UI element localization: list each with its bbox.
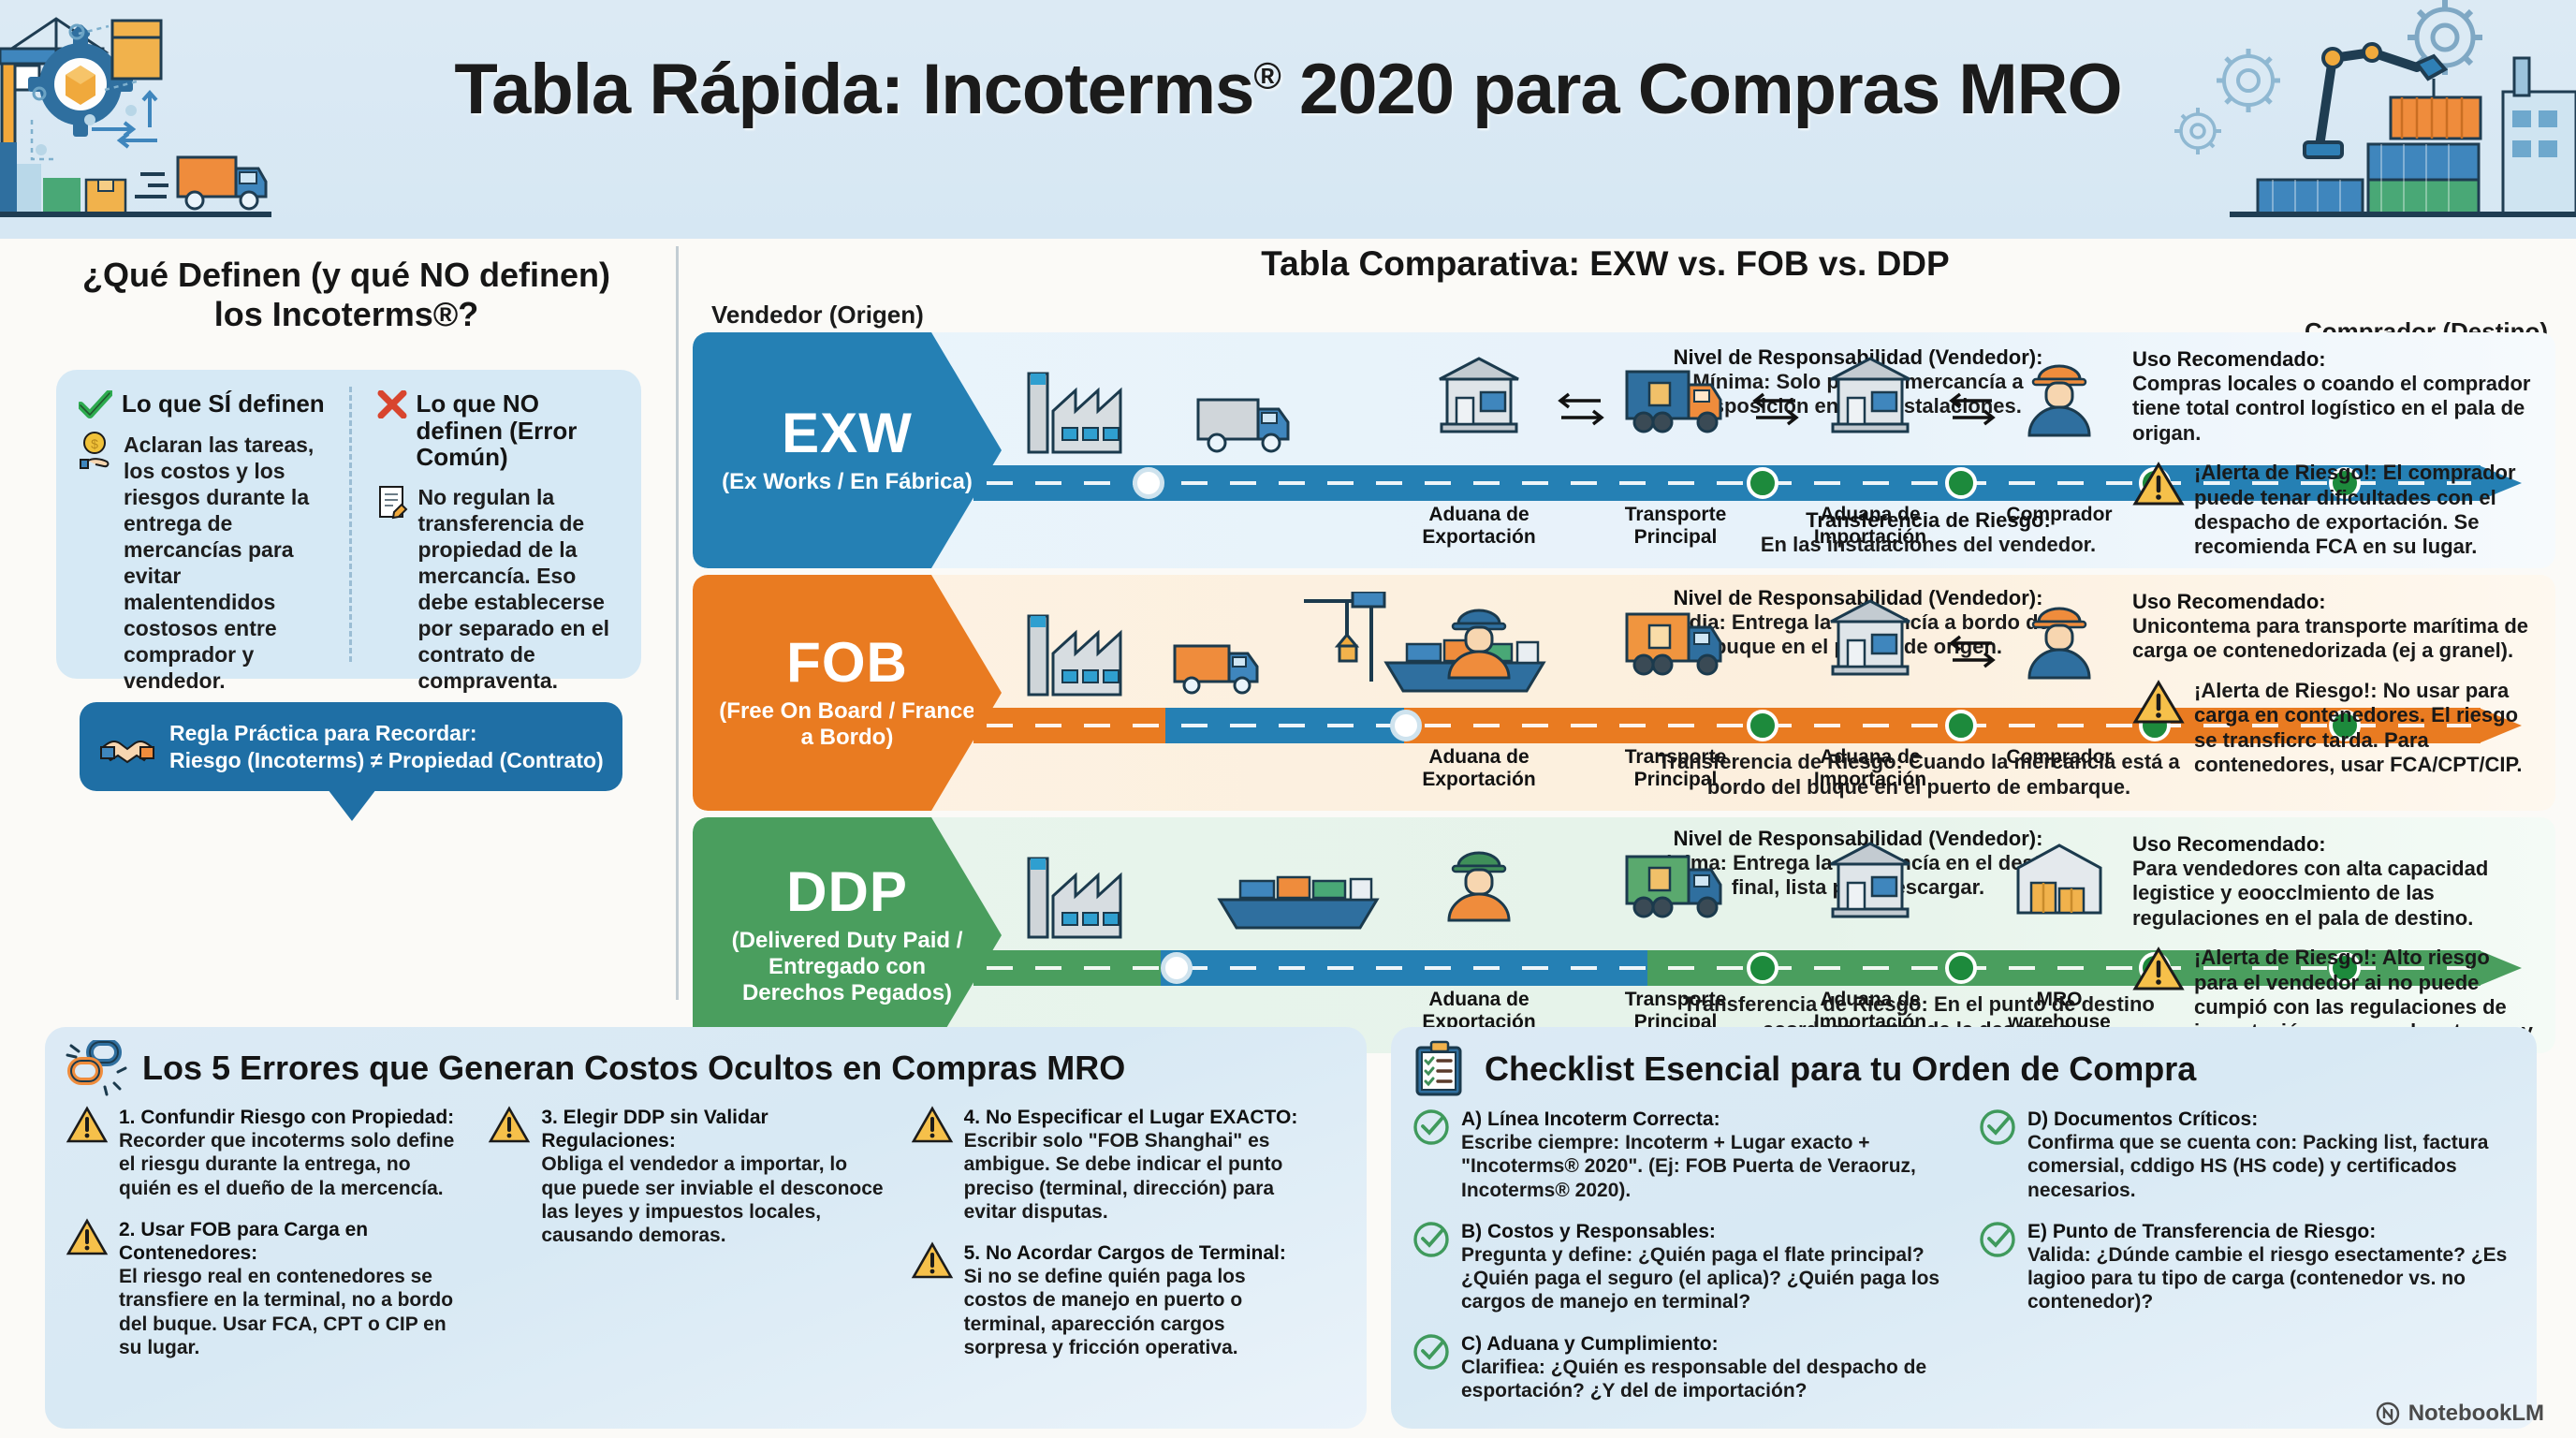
item-body: El riesgo real en contenedores se transf… <box>119 1266 453 1358</box>
factory-icon <box>1029 616 1120 695</box>
list-item: A) Línea Incoterm Correcta:Escribe ciemp… <box>1412 1108 1950 1202</box>
alert-label: ¡Alerta de Riesgo!: <box>2194 679 2378 702</box>
risk-transfer-body: En las instalaciones del vendedor. <box>1666 533 2190 557</box>
callout-pointer <box>328 789 376 821</box>
risk-transfer-title: Transferencia de Riesgo: <box>1666 508 2190 533</box>
factory-icon <box>1029 374 1120 452</box>
list-item: 1. Confundir Riesgo con Propiedad:Record… <box>66 1106 463 1200</box>
incoterm-code: DDP <box>786 864 908 920</box>
table-row: FOB (Free On Board / France a Bordo) <box>693 575 2555 811</box>
warning-triangle-icon <box>2132 946 2185 992</box>
incoterm-code: EXW <box>782 405 913 462</box>
factory-icon <box>1029 858 1120 937</box>
flow-node <box>1945 952 1977 984</box>
item-body: Si no se define quién paga los costos de… <box>964 1266 1246 1358</box>
warning-triangle-icon <box>911 1241 954 1281</box>
comparison-column-headers: Vendedor (Origen) Comprador (Destino) <box>693 293 2555 332</box>
contract-document-icon <box>377 484 409 521</box>
risk-transfer-title: Transferencia de Riesgo: <box>1683 992 1928 1016</box>
item-head: 1. Confundir Riesgo con Propiedad: <box>119 1107 454 1128</box>
advice-body: Compras locales o coando el comprador ti… <box>2132 372 2537 446</box>
checklist-column-1: A) Línea Incoterm Correcta:Escribe ciemp… <box>1412 1108 1950 1420</box>
port-crane-icon <box>1304 592 1384 682</box>
item-head: A) Línea Incoterm Correcta: <box>1461 1108 1720 1130</box>
item-head: 2. Usar FOB para Carga en Contenedores: <box>119 1219 368 1264</box>
header-art-right <box>2136 0 2576 239</box>
advice-body: Unicontema para transporte marítima de c… <box>2132 614 2537 664</box>
table-row: EXW (Ex Works / En Fábrica) <box>693 332 2555 568</box>
item-body: Clarifiea: ¿Quién es responsable del des… <box>1461 1357 1926 1401</box>
item-body: Escribe ciempre: Incoterm + Lugar exacto… <box>1461 1132 1916 1200</box>
check-circle-icon <box>1412 1220 1451 1259</box>
warning-triangle-icon <box>911 1106 954 1145</box>
errors-panel: Los 5 Errores que Generan Costos Ocultos… <box>45 1027 1367 1429</box>
stage-customs-export: Aduana de Exportación <box>1404 825 1554 922</box>
stage-buyer: Comprador <box>1984 340 2134 437</box>
item-head: D) Documentos Críticos: <box>2027 1108 2258 1130</box>
page-title-tail: 2020 para Compras MRO <box>1281 50 2122 129</box>
brand-label: NotebookLM <box>2408 1401 2544 1427</box>
brand-watermark: NotebookLM <box>2376 1401 2544 1427</box>
page-header: Tabla Rápida: Incoterms® 2020 para Compr… <box>0 0 2576 239</box>
flow-node <box>1945 710 1977 741</box>
buyer-worker-icon <box>1984 340 2134 437</box>
list-item: 5. No Acordar Cargos de Terminal:Si no s… <box>911 1241 1309 1359</box>
handshake-icon <box>98 725 156 770</box>
advice-block-fob: Uso Recomendado: Unicontema para transpo… <box>2123 586 2550 777</box>
item-head: E) Punto de Transferencia de Riesgo: <box>2027 1221 2376 1242</box>
risk-transfer-node <box>1133 467 1164 499</box>
flow-node <box>1747 710 1778 741</box>
list-item: D) Documentos Críticos:Confirma que se c… <box>1978 1108 2516 1202</box>
list-item: E) Punto de Transferencia de Riesgo:Vali… <box>1978 1220 2516 1314</box>
warning-triangle-icon <box>488 1106 531 1145</box>
practical-rule-callout: Regla Práctica para Recordar: Riesgo (In… <box>80 702 622 791</box>
definitions-heading: ¿Qué Definen (y qué NO definen) los Inco… <box>28 256 665 335</box>
advice-block-ddp: Uso Recomendado: Para vendedores con alt… <box>2123 829 2550 1053</box>
customs-building-icon <box>1795 582 1945 680</box>
item-head: 4. No Especificar el Lugar EXACTO: <box>964 1107 1298 1128</box>
incoterm-subtitle: (Free On Board / France a Bordo) <box>693 698 1002 751</box>
list-item: 4. No Especificar el Lugar EXACTO:Escrib… <box>911 1106 1309 1224</box>
list-item: B) Costos y Responsables:Pregunta y defi… <box>1412 1220 1950 1314</box>
item-body: Recorder que incoterms solo define el ri… <box>119 1130 454 1198</box>
container-ship-icon <box>1220 877 1377 928</box>
incoterm-label-fob: FOB (Free On Board / France a Bordo) <box>693 575 1002 811</box>
item-body: Confirma que se cuenta con: Packing list… <box>2027 1132 2488 1200</box>
advice-title: Uso Recomendado: <box>2132 347 2537 372</box>
incoterm-label-ddp: DDP (Delivered Duty Paid / Entregado con… <box>693 817 1002 1053</box>
check-circle-icon <box>1978 1108 2017 1147</box>
svg-text:$: $ <box>91 436 98 451</box>
green-check-icon <box>79 390 112 418</box>
stage-buyer: Comprador <box>1984 582 2134 680</box>
comparison-table-title: Tabla Comparativa: EXW vs. FOB vs. DDP <box>655 244 2555 284</box>
stage-customs-import: Aduana de Importación <box>1795 825 1945 922</box>
notebooklm-icon <box>2376 1401 2400 1426</box>
definitions-panel: ¿Qué Definen (y qué NO definen) los Inco… <box>28 248 665 1016</box>
item-body: Valida: ¿Dúnde cambie el riesgo esectame… <box>2027 1244 2507 1313</box>
item-body: Escribir solo "FOB Shanghai" es ambigue.… <box>964 1130 1283 1223</box>
incoterm-subtitle: (Delivered Duty Paid / Entregado con Der… <box>693 928 1002 1005</box>
item-body: Obliga el vendedor a importar, lo que pu… <box>541 1153 883 1246</box>
item-head: B) Costos y Responsables: <box>1461 1221 1716 1242</box>
stage-customs-export: Aduana de Exportación <box>1404 340 1554 437</box>
list-item: C) Aduana y Cumplimiento:Clarifiea: ¿Qui… <box>1412 1332 1950 1403</box>
clipboard-checklist-icon <box>1412 1040 1470 1098</box>
advice-title: Uso Recomendado: <box>2132 832 2537 857</box>
registered-mark: ® <box>1253 56 1280 97</box>
checklist-column-2: D) Documentos Críticos:Confirma que se c… <box>1978 1108 2516 1420</box>
warning-triangle-icon <box>2132 679 2185 726</box>
warning-triangle-icon <box>66 1106 109 1145</box>
definitions-yes-title: Lo que SÍ definen <box>122 390 325 418</box>
stage-label: Aduana de Exportación <box>1404 504 1554 548</box>
alert-label: ¡Alerta de Riesgo!: <box>2194 946 2378 969</box>
incoterm-label-exw: EXW (Ex Works / En Fábrica) <box>693 332 1002 568</box>
item-head: 5. No Acordar Cargos de Terminal: <box>964 1242 1286 1264</box>
truck-icon <box>1175 646 1257 693</box>
warning-triangle-icon <box>66 1218 109 1257</box>
red-cross-icon <box>377 390 407 418</box>
column-header-seller: Vendedor (Origen) <box>711 301 924 330</box>
check-circle-icon <box>1412 1108 1451 1147</box>
risk-transfer-block-exw: Transferencia de Riesgo: En las instalac… <box>1666 508 2190 557</box>
risk-transfer-node <box>1390 710 1422 741</box>
advice-block-exw: Uso Recomendado: Compras locales o coand… <box>2123 344 2550 560</box>
incoterm-subtitle: (Ex Works / En Fábrica) <box>697 469 997 495</box>
checklist-panel-title: Checklist Esencial para tu Orden de Comp… <box>1485 1049 2196 1089</box>
buyer-worker-icon <box>1984 582 2134 680</box>
stage-mro-warehouse: MRO warehouse <box>1984 825 2134 922</box>
stage-customs-import: Aduana de Importación <box>1795 340 1945 437</box>
check-circle-icon <box>1412 1332 1451 1372</box>
stage-customs-export: Aduana de Exportación <box>1404 582 1554 680</box>
customs-officer-green-icon <box>1404 825 1554 922</box>
warning-triangle-icon <box>2132 461 2185 507</box>
errors-panel-title: Los 5 Errores que Generan Costos Ocultos… <box>142 1049 1125 1088</box>
flow-node <box>1945 467 1977 499</box>
advice-body: Para vendedores con alta capacidad legis… <box>2132 857 2537 931</box>
definitions-no-body: No regulan la transferencia de propiedad… <box>418 484 623 694</box>
definitions-yes-column: Lo que SÍ definen $ Aclaran las tareas, … <box>56 370 349 679</box>
risk-transfer-title: Transferencia de Riesgo: <box>1658 750 1903 773</box>
practical-rule-line2: Riesgo (Incoterms) ≠ Propiedad (Contrato… <box>169 747 604 774</box>
errors-column-3: 4. No Especificar el Lugar EXACTO:Escrib… <box>911 1106 1309 1377</box>
list-item: 3. Elegir DDP sin Validar Regulaciones:O… <box>488 1106 885 1247</box>
customs-building-icon <box>1404 340 1554 437</box>
errors-column-2: 3. Elegir DDP sin Validar Regulaciones:O… <box>488 1106 885 1377</box>
alert-label: ¡Alerta de Riesgo!: <box>2194 461 2378 484</box>
risk-transfer-node <box>1161 952 1193 984</box>
stage-main-transport: Transporte Principal <box>1601 340 1750 437</box>
stage-label: Aduana de Exportación <box>1404 746 1554 790</box>
column-divider <box>676 246 679 1000</box>
checklist-panel: Checklist Esencial para tu Orden de Comp… <box>1391 1027 2537 1429</box>
list-item: 2. Usar FOB para Carga en Contenedores:E… <box>66 1218 463 1359</box>
stage-label: Aduana de Exportación <box>1404 989 1554 1033</box>
risk-transfer-block-fob: Transferencia de Riesgo: Cuando la merca… <box>1638 750 2200 800</box>
incoterm-code: FOB <box>786 635 908 691</box>
definitions-yes-body: Aclaran las tareas, los costos y los rie… <box>124 432 330 694</box>
customs-officer-icon <box>1404 582 1554 680</box>
bottom-panels: Los 5 Errores que Generan Costos Ocultos… <box>0 1027 2576 1438</box>
stage-main-transport: Transporte Principal <box>1601 825 1750 922</box>
customs-building-icon <box>1795 340 1945 437</box>
check-circle-icon <box>1978 1220 2017 1259</box>
comparison-table: Tabla Comparativa: EXW vs. FOB vs. DDP V… <box>693 244 2555 1060</box>
advice-title: Uso Recomendado: <box>2132 590 2537 614</box>
table-row: DDP (Delivered Duty Paid / Entregado con… <box>693 817 2555 1053</box>
definitions-box: Lo que SÍ definen $ Aclaran las tareas, … <box>56 370 641 679</box>
stage-customs-import: Aduana de Importación <box>1795 582 1945 680</box>
flow-node <box>1747 952 1778 984</box>
stage-main-transport: Transporte Principal <box>1601 582 1750 680</box>
definitions-no-column: Lo que NO definen (Error Común) No regul… <box>349 370 642 679</box>
orange-truck-icon <box>1601 582 1750 680</box>
coin-in-hand-icon: $ <box>79 432 114 469</box>
item-body: Pregunta y define: ¿Quién paga el flate … <box>1461 1244 1939 1313</box>
definitions-no-title: Lo que NO definen (Error Común) <box>417 390 623 471</box>
practical-rule-line1: Regla Práctica para Recordar: <box>169 720 604 747</box>
green-truck-icon <box>1601 825 1750 922</box>
item-head: 3. Elegir DDP sin Validar Regulaciones: <box>541 1107 768 1152</box>
truck-icon <box>1198 400 1288 451</box>
page-title-main: Tabla Rápida: Incoterms <box>454 50 1253 129</box>
warehouse-boxes-icon <box>1984 825 2134 922</box>
item-head: C) Aduana y Cumplimiento: <box>1461 1333 1719 1355</box>
errors-column-1: 1. Confundir Riesgo con Propiedad:Record… <box>66 1106 463 1377</box>
blue-truck-icon <box>1601 340 1750 437</box>
flow-node <box>1747 467 1778 499</box>
customs-building-icon <box>1795 825 1945 922</box>
broken-chain-icon <box>66 1040 127 1096</box>
